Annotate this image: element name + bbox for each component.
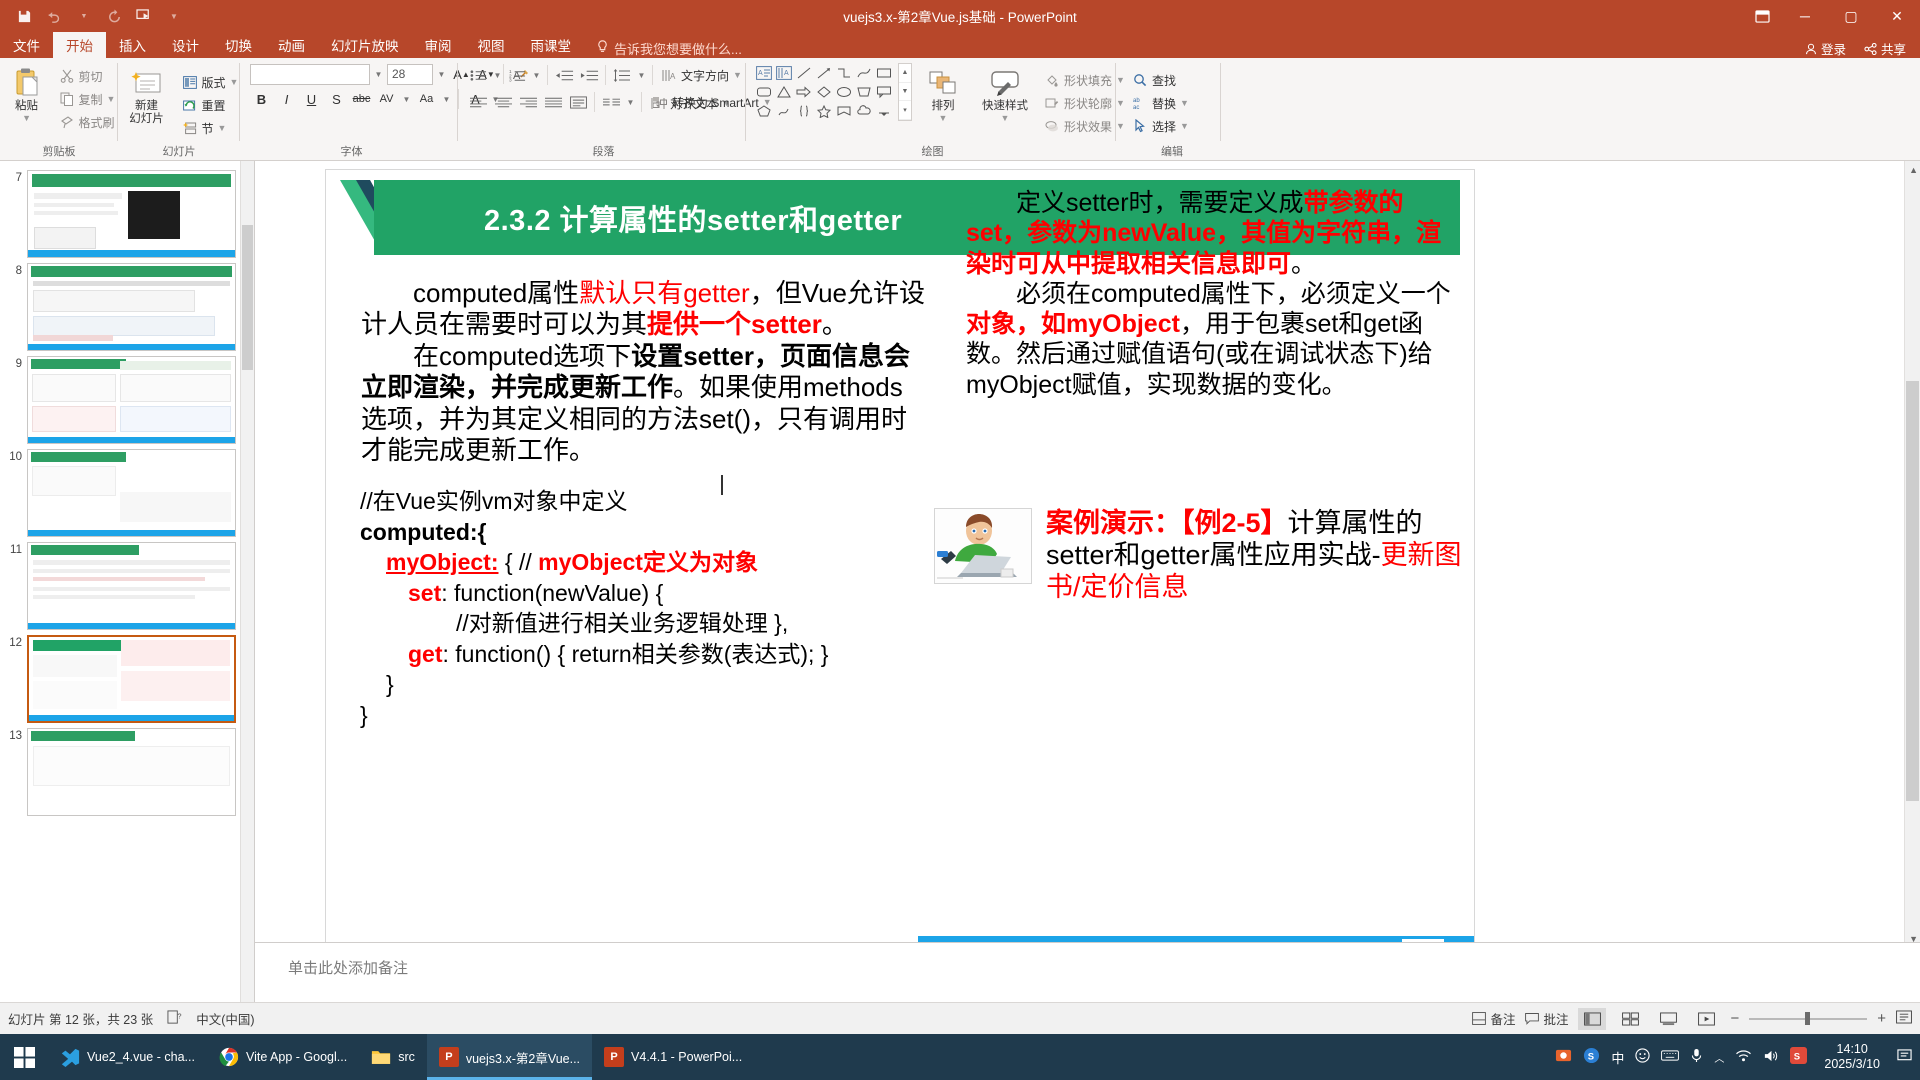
reset-icon	[182, 97, 198, 113]
notes-button-label: 备注	[1490, 1009, 1515, 1028]
thumbnail-number: 11	[6, 542, 22, 630]
share-label: 共享	[1881, 39, 1906, 58]
font-name-input[interactable]	[250, 64, 370, 85]
slide-sorter-icon[interactable]	[1616, 1008, 1644, 1030]
tab-review[interactable]: 审阅	[412, 32, 465, 58]
code-key-set: set	[408, 580, 441, 606]
line-spacing-dropdown-icon[interactable]: ▼	[635, 71, 648, 80]
code-line3-rest: { //	[498, 549, 538, 575]
cut-label: 剪切	[79, 68, 103, 85]
svg-text:A: A	[784, 70, 789, 77]
group-label-font: 字体	[341, 144, 363, 161]
cut-button[interactable]: 剪切	[55, 65, 120, 87]
thumbnail-image[interactable]	[27, 263, 236, 351]
tab-yuketang[interactable]: 雨课堂	[518, 32, 585, 58]
section-icon	[182, 120, 198, 136]
rp1-text-1: 定义setter时，需要定义成	[1016, 189, 1304, 217]
work-area: 7 8	[0, 161, 1920, 1002]
italic-button[interactable]: I	[275, 88, 298, 111]
svg-text:S: S	[1588, 1051, 1594, 1062]
taskbar-item-label: Vite App - Googl...	[246, 1050, 347, 1064]
thumbnail-number: 9	[6, 356, 22, 444]
group-label-clipboard: 剪贴板	[43, 144, 76, 161]
section-dropdown-icon[interactable]: ▼	[218, 123, 227, 133]
case-label: 案例演示：	[1046, 508, 1181, 538]
group-editing: 查找 abac 替换 ▼ 选择 ▼ 编辑	[1116, 58, 1221, 161]
notes-placeholder: 单击此处添加备注	[288, 960, 408, 977]
left-text-block[interactable]: computed属性默认只有getter，但Vue允许设计人员在需要时可以为其提…	[361, 278, 926, 467]
thumbnail-12[interactable]: 12	[0, 630, 240, 723]
tab-insert[interactable]: 插入	[106, 32, 159, 58]
select-label: 选择	[1152, 118, 1176, 135]
taskbar: Vue2_4.vue - cha... Vite App - Googl... …	[0, 1034, 1920, 1080]
text-direction-dropdown-icon[interactable]: ▼	[733, 70, 742, 80]
undo-dropdown-icon[interactable]: ▼	[70, 4, 98, 28]
thumbnail-image[interactable]	[27, 170, 236, 258]
slide-canvas[interactable]: 2.3.2 计算属性的setter和getter computed属性默认只有g…	[325, 169, 1475, 979]
shape-effects-label: 形状效果	[1064, 118, 1112, 135]
lightbulb-icon	[596, 40, 609, 57]
taskbar-item-chrome[interactable]: Vite App - Googl...	[207, 1034, 359, 1080]
tab-home[interactable]: 开始	[53, 32, 106, 58]
font-size-input[interactable]: 28	[387, 64, 433, 85]
section-label: 节	[202, 120, 214, 137]
bold-button[interactable]: B	[250, 88, 273, 111]
shape-outline-icon	[1044, 95, 1060, 111]
strikethrough-button[interactable]: abc	[350, 88, 373, 111]
code-line6-rest: : function() { return相关参数(表达式); }	[443, 641, 829, 667]
taskbar-item-powerpoint-v441[interactable]: P V4.4.1 - PowerPoi...	[592, 1034, 754, 1080]
scroll-up-arrow-icon[interactable]: ▲	[1909, 165, 1918, 175]
slide-count-label: 幻灯片 第 12 张，共 23 张	[8, 1009, 153, 1028]
paragraph-row-1: ▼ 123 ▼ ▼ A 文字方向 ▼	[466, 63, 746, 87]
tell-me-box[interactable]: 告诉我您想要做什么...	[584, 39, 742, 58]
vscode-icon	[60, 1047, 80, 1067]
thumbnail-image[interactable]	[27, 542, 236, 630]
copy-icon	[59, 91, 75, 107]
thumbnail-9[interactable]: 9	[0, 351, 240, 444]
underline-button[interactable]: U	[300, 88, 323, 111]
taskbar-item-label: Vue2_4.vue - cha...	[87, 1050, 195, 1064]
replace-icon: abac	[1132, 95, 1148, 111]
numbering-dropdown-icon[interactable]: ▼	[530, 71, 543, 80]
clock[interactable]: 14:10 2025/3/10	[1818, 1042, 1886, 1072]
thumbnail-scrollbar[interactable]	[240, 161, 254, 1002]
group-clipboard: 粘贴 ▼ 剪切 复制 ▼	[0, 58, 118, 161]
case-demo-text: 案例演示：【例2-5】计算属性的setter和getter属性应用实战-更新图书…	[1046, 508, 1464, 604]
new-slide-icon	[131, 66, 163, 98]
code-line-4: set: function(newValue) {	[360, 578, 940, 609]
tab-transitions[interactable]: 切换	[212, 32, 265, 58]
page-title: 2.3.2 计算属性的setter和getter	[484, 197, 902, 239]
search-icon	[1132, 72, 1148, 88]
tab-slideshow[interactable]: 幻灯片放映	[318, 32, 412, 58]
ribbon-tabs: 文件 开始 插入 设计 切换 动画 幻灯片放映 审阅 视图 雨课堂 告诉我您想要…	[0, 32, 1920, 58]
lp1-text-4: 提供一个setter	[647, 309, 822, 339]
thumbnail-number: 8	[6, 263, 22, 351]
numbering-icon[interactable]: 123	[505, 64, 529, 86]
screenshot-icon[interactable]	[1555, 1047, 1572, 1067]
code-line-5: //对新值进行相关业务逻辑处理 },	[360, 608, 940, 639]
shape-banner-icon[interactable]	[834, 101, 854, 120]
svg-text:A: A	[758, 70, 763, 77]
undo-icon[interactable]	[40, 4, 68, 28]
shape-oval-icon[interactable]	[834, 82, 854, 101]
code-key-myobject: myObject:	[386, 549, 498, 575]
shape-diamond-icon[interactable]	[814, 82, 834, 101]
layout-icon	[182, 74, 198, 90]
thumbnail-11[interactable]: 11	[0, 537, 240, 630]
shapes-scroll-up-icon[interactable]: ▲	[899, 64, 911, 83]
shape-fill-label: 形状填充	[1064, 72, 1112, 89]
folder-icon	[371, 1047, 391, 1067]
replace-button[interactable]: abac 替换 ▼	[1128, 92, 1193, 114]
new-slide-label: 新建幻灯片	[129, 100, 164, 126]
lp1-text-5: 。	[822, 309, 848, 339]
signin-button[interactable]: 登录	[1805, 39, 1846, 58]
quick-access-toolbar: ▼ ▼	[0, 4, 188, 28]
reset-button[interactable]: 重置	[178, 94, 243, 116]
normal-view-icon[interactable]	[1578, 1008, 1606, 1030]
group-label-drawing: 绘图	[922, 144, 944, 161]
line-spacing-icon[interactable]	[610, 64, 634, 86]
sogou-s-icon[interactable]: S	[1790, 1047, 1807, 1067]
thumbnail-image[interactable]	[27, 449, 236, 537]
arrange-icon	[928, 66, 958, 98]
paste-button[interactable]: 粘贴 ▼	[0, 63, 55, 123]
left-paragraph-2: 在computed选项下设置setter，页面信息会立即渲染，并完成更新工作。如…	[361, 341, 926, 467]
format-painter-icon	[59, 114, 75, 130]
svg-text:A: A	[670, 72, 676, 81]
shape-line-icon[interactable]	[794, 63, 814, 82]
font-name-dropdown-icon[interactable]: ▼	[372, 70, 385, 79]
ribbon-display-options-icon[interactable]	[1742, 0, 1782, 32]
notification-icon[interactable]	[1897, 1048, 1912, 1066]
shape-vertical-textbox-icon[interactable]: A	[774, 63, 794, 82]
quick-styles-dropdown-icon[interactable]: ▼	[1001, 113, 1010, 123]
thumbnail-image[interactable]	[27, 635, 236, 723]
notes-pane[interactable]: 单击此处添加备注	[255, 942, 1920, 1002]
thumbnail-image[interactable]	[27, 728, 236, 816]
shape-scribble-icon[interactable]	[774, 101, 794, 120]
thumbnail-number: 13	[6, 728, 22, 816]
taskbar-item-label: src	[398, 1050, 415, 1064]
replace-label: 替换	[1152, 95, 1176, 112]
shape-elbow-icon[interactable]	[834, 63, 854, 82]
window-controls: ─ ▢ ✕	[1742, 0, 1920, 32]
thumbnail-10[interactable]: 10	[0, 444, 240, 537]
find-button[interactable]: 查找	[1128, 69, 1193, 91]
code-block[interactable]: //在Vue实例vm对象中定义 computed:{ myObject: { /…	[360, 486, 940, 731]
shape-arrow-icon[interactable]	[814, 63, 834, 82]
character-spacing-icon[interactable]: AV	[375, 88, 398, 111]
tell-me-text: 告诉我您想要做什么...	[614, 39, 742, 58]
boy-with-laptop-image	[934, 508, 1032, 584]
copy-label: 复制	[79, 91, 103, 108]
volume-icon[interactable]	[1763, 1049, 1779, 1066]
case-demo-block[interactable]: 案例演示：【例2-5】计算属性的setter和getter属性应用实战-更新图书…	[934, 508, 1464, 604]
change-case-dropdown-icon[interactable]: ▼	[440, 95, 453, 104]
thumbnail-number: 10	[6, 449, 22, 537]
slideshow-icon[interactable]	[1692, 1008, 1720, 1030]
shapes-scroll-down-icon[interactable]: ▼	[899, 83, 911, 102]
taskbar-item-folder[interactable]: src	[359, 1034, 427, 1080]
shape-curve-icon[interactable]	[854, 63, 874, 82]
rp2-text-1: 必须在computed属性下，必须定义一个	[1016, 280, 1451, 308]
powerpoint-icon: P	[439, 1047, 459, 1067]
code-line4-rest: : function(newValue) {	[441, 580, 663, 606]
slide-scroll-thumb[interactable]	[1906, 381, 1919, 801]
group-drawing: A A	[746, 58, 1116, 161]
lp2-text-1: 在computed选项下	[413, 341, 631, 371]
customize-qat-icon[interactable]: ▼	[160, 4, 188, 28]
windows-start-icon[interactable]	[0, 1034, 48, 1080]
shape-triangle-icon[interactable]	[774, 82, 794, 101]
paste-icon	[12, 66, 42, 98]
copy-dropdown-icon[interactable]: ▼	[107, 94, 116, 104]
reading-view-icon[interactable]	[1654, 1008, 1682, 1030]
quick-styles-button[interactable]: 快速样式 ▼	[974, 63, 1036, 123]
thumbnail-number: 7	[6, 170, 22, 258]
code-line3-comment: myObject定义为对象	[538, 549, 758, 575]
thumbnail-7[interactable]: 7	[0, 165, 240, 258]
keyboard-icon[interactable]	[1661, 1049, 1679, 1065]
taskbar-item-label: vuejs3.x-第2章Vue...	[466, 1048, 580, 1067]
redo-icon[interactable]	[100, 4, 128, 28]
shapes-more-icon[interactable]: ▾	[899, 101, 911, 120]
thumbnail-image[interactable]	[27, 356, 236, 444]
tab-design[interactable]: 设计	[159, 32, 212, 58]
maximize-button[interactable]: ▢	[1828, 0, 1874, 32]
case-example: 【例2-5】	[1181, 508, 1288, 538]
rp1-text-3: 。	[1291, 250, 1316, 278]
select-icon	[1132, 118, 1148, 134]
paste-dropdown-icon[interactable]: ▼	[22, 113, 31, 123]
bullets-icon[interactable]	[466, 64, 490, 86]
powerpoint-icon: P	[604, 1047, 624, 1067]
thumbnail-13[interactable]: 13	[0, 723, 240, 816]
replace-dropdown-icon[interactable]: ▼	[1180, 98, 1189, 108]
thumbnail-scroll-thumb[interactable]	[242, 225, 253, 370]
shape-callout-icon[interactable]	[874, 82, 894, 101]
share-button[interactable]: 共享	[1864, 39, 1906, 58]
shape-rect-icon[interactable]	[874, 63, 894, 82]
lp1-text-2: 默认只有getter	[579, 278, 750, 308]
notes-button[interactable]: 备注	[1472, 1009, 1515, 1028]
right-paragraph-1: 定义setter时，需要定义成带参数的set，参数为newValue，其值为字符…	[966, 188, 1456, 279]
select-dropdown-icon[interactable]: ▼	[1180, 121, 1189, 131]
find-label: 查找	[1152, 72, 1176, 89]
paste-label: 粘贴	[15, 100, 38, 113]
close-button[interactable]: ✕	[1874, 0, 1920, 32]
minimize-button[interactable]: ─	[1782, 0, 1828, 32]
layout-dropdown-icon[interactable]: ▼	[230, 77, 239, 87]
lp1-text-1: computed属性	[413, 278, 579, 308]
zoom-slider[interactable]	[1749, 1012, 1867, 1026]
arrange-dropdown-icon[interactable]: ▼	[939, 113, 948, 123]
code-line-7: }	[360, 669, 940, 700]
group-font: ▼ 28 ▼ A▲ A▼ A B I U S abc AV ▼ Aa ▼	[240, 58, 458, 161]
select-button[interactable]: 选择 ▼	[1128, 115, 1193, 137]
format-painter-label: 格式刷	[79, 114, 115, 131]
taskbar-item-label: V4.4.1 - PowerPoi...	[631, 1050, 742, 1064]
shape-textbox-icon[interactable]: A	[754, 63, 774, 82]
shape-star-icon[interactable]	[814, 101, 834, 120]
shape-fill-icon	[1044, 72, 1060, 88]
clock-time: 14:10	[1824, 1042, 1880, 1057]
shape-flowchart-icon[interactable]	[854, 82, 874, 101]
ribbon: 粘贴 ▼ 剪切 复制 ▼	[0, 58, 1920, 161]
left-paragraph-1: computed属性默认只有getter，但Vue允许设计人员在需要时可以为其提…	[361, 278, 926, 341]
bullets-dropdown-icon[interactable]: ▼	[491, 71, 504, 80]
character-spacing-dropdown-icon[interactable]: ▼	[400, 95, 413, 104]
shape-right-arrow-icon[interactable]	[794, 82, 814, 101]
zoom-out-button[interactable]: −	[1730, 1010, 1739, 1027]
right-text-block[interactable]: 定义setter时，需要定义成带参数的set，参数为newValue，其值为字符…	[966, 188, 1456, 400]
group-label-slides: 幻灯片	[163, 144, 196, 161]
window-title: vuejs3.x-第2章Vue.js基础 - PowerPoint	[0, 6, 1920, 26]
shape-curly-brace-icon[interactable]	[794, 101, 814, 120]
cut-icon	[59, 68, 75, 84]
zoom-in-button[interactable]: +	[1877, 1010, 1886, 1027]
save-icon[interactable]	[10, 4, 38, 28]
svg-text:ac: ac	[1133, 105, 1139, 110]
smartart-icon	[652, 94, 668, 110]
svg-text:?: ?	[178, 1011, 182, 1020]
chinese-icon[interactable]: 中	[1611, 1048, 1624, 1067]
thumbnail-8[interactable]: 8	[0, 258, 240, 351]
right-paragraph-2: 必须在computed属性下，必须定义一个对象，如myObject，用于包裹se…	[966, 279, 1456, 400]
tab-animations[interactable]: 动画	[265, 32, 318, 58]
start-slideshow-icon[interactable]	[130, 4, 158, 28]
svg-text:S: S	[1794, 1051, 1800, 1062]
slide-stage: 2.3.2 计算属性的setter和getter computed属性默认只有g…	[255, 161, 1920, 1002]
code-line-2: computed:{	[360, 517, 940, 548]
taskbar-item-vscode[interactable]: Vue2_4.vue - cha...	[48, 1034, 207, 1080]
shape-outline-label: 形状轮廓	[1064, 95, 1112, 112]
up-arrow-icon[interactable]: ︿	[1714, 1050, 1724, 1065]
svg-text:ab: ab	[1133, 98, 1140, 104]
shape-pentagon-icon[interactable]	[754, 101, 774, 120]
shape-cloud-icon[interactable]	[854, 101, 874, 120]
arrange-label: 排列	[932, 100, 955, 113]
clock-date: 2025/3/10	[1824, 1057, 1880, 1072]
slide-thumbnail-pane[interactable]: 7 8	[0, 161, 255, 1002]
text-direction-icon: A	[661, 67, 677, 83]
thumbnail-number: 12	[6, 635, 22, 723]
account-area: 登录 共享	[1805, 39, 1920, 58]
smiley-icon[interactable]	[1635, 1048, 1650, 1066]
layout-button[interactable]: 版式 ▼	[178, 71, 243, 93]
increase-indent-icon[interactable]	[577, 64, 601, 86]
system-tray: S 中 ︿ S 14:10 2025/3/10	[1555, 1042, 1920, 1072]
tab-file[interactable]: 文件	[0, 32, 53, 58]
text-direction-label: 文字方向	[681, 67, 729, 84]
section-button[interactable]: 节 ▼	[178, 117, 243, 139]
svg-text:3: 3	[509, 77, 512, 81]
wifi-icon[interactable]	[1735, 1049, 1752, 1066]
text-direction-button[interactable]: A 文字方向 ▼	[657, 64, 746, 86]
group-paragraph: ▼ 123 ▼ ▼ A 文字方向 ▼	[458, 58, 746, 161]
mic-icon[interactable]	[1690, 1048, 1703, 1066]
quick-styles-label: 快速样式	[982, 100, 1028, 113]
comments-button-label: 批注	[1543, 1009, 1568, 1028]
status-bar: 幻灯片 第 12 张，共 23 张 ? 中文(中国) 备注 批注 −	[0, 1002, 1920, 1034]
accessibility-icon[interactable]: ?	[167, 1010, 182, 1028]
tab-view[interactable]: 视图	[465, 32, 518, 58]
comments-button[interactable]: 批注	[1525, 1009, 1568, 1028]
quick-styles-icon	[988, 66, 1022, 98]
text-cursor	[721, 475, 723, 495]
fit-slide-icon[interactable]	[1896, 1010, 1912, 1027]
arrange-button[interactable]: 排列 ▼	[916, 63, 970, 123]
copy-button[interactable]: 复制 ▼	[55, 88, 120, 110]
text-shadow-button[interactable]: S	[325, 88, 348, 111]
taskbar-item-powerpoint-active[interactable]: P vuejs3.x-第2章Vue...	[427, 1034, 592, 1080]
shape-effects-icon	[1044, 118, 1060, 134]
shape-rounded-rect-icon[interactable]	[754, 82, 774, 101]
code-line-3: myObject: { // myObject定义为对象	[360, 547, 940, 578]
sogou-icon[interactable]: S	[1583, 1047, 1600, 1067]
format-painter-button[interactable]: 格式刷	[55, 111, 120, 133]
code-line-6: get: function() { return相关参数(表达式); }	[360, 639, 940, 670]
font-size-dropdown-icon[interactable]: ▼	[435, 70, 448, 79]
group-label-editing: 编辑	[1161, 144, 1183, 161]
signin-label: 登录	[1821, 39, 1846, 58]
shape-more-icon[interactable]	[874, 101, 894, 120]
new-slide-button[interactable]: 新建幻灯片	[116, 63, 178, 126]
paragraph-row-3: 转换为 SmartArt ▼	[466, 91, 776, 113]
language-label[interactable]: 中文(中国)	[196, 1009, 254, 1028]
layout-label: 版式	[202, 74, 226, 91]
rp2-text-2: 对象，如myObject	[966, 310, 1180, 338]
reset-label: 重置	[202, 97, 226, 114]
code-key-get: get	[408, 641, 443, 667]
chrome-icon	[219, 1047, 239, 1067]
shapes-scroll[interactable]: ▲ ▼ ▾	[898, 63, 912, 121]
slide-vertical-scrollbar[interactable]: ▲ ▼ ⌃ ⌄	[1904, 161, 1920, 1002]
group-slides: 新建幻灯片 版式 ▼ 重置	[118, 58, 240, 161]
group-label-paragraph: 段落	[593, 144, 615, 161]
title-bar: ▼ ▼ vuejs3.x-第2章Vue.js基础 - PowerPoint ─ …	[0, 0, 1920, 32]
code-line-8: }	[360, 700, 940, 731]
change-case-icon[interactable]: Aa	[415, 88, 438, 111]
code-line-1: //在Vue实例vm对象中定义	[360, 486, 940, 517]
decrease-indent-icon[interactable]	[552, 64, 576, 86]
shapes-gallery[interactable]: A A	[754, 63, 894, 120]
